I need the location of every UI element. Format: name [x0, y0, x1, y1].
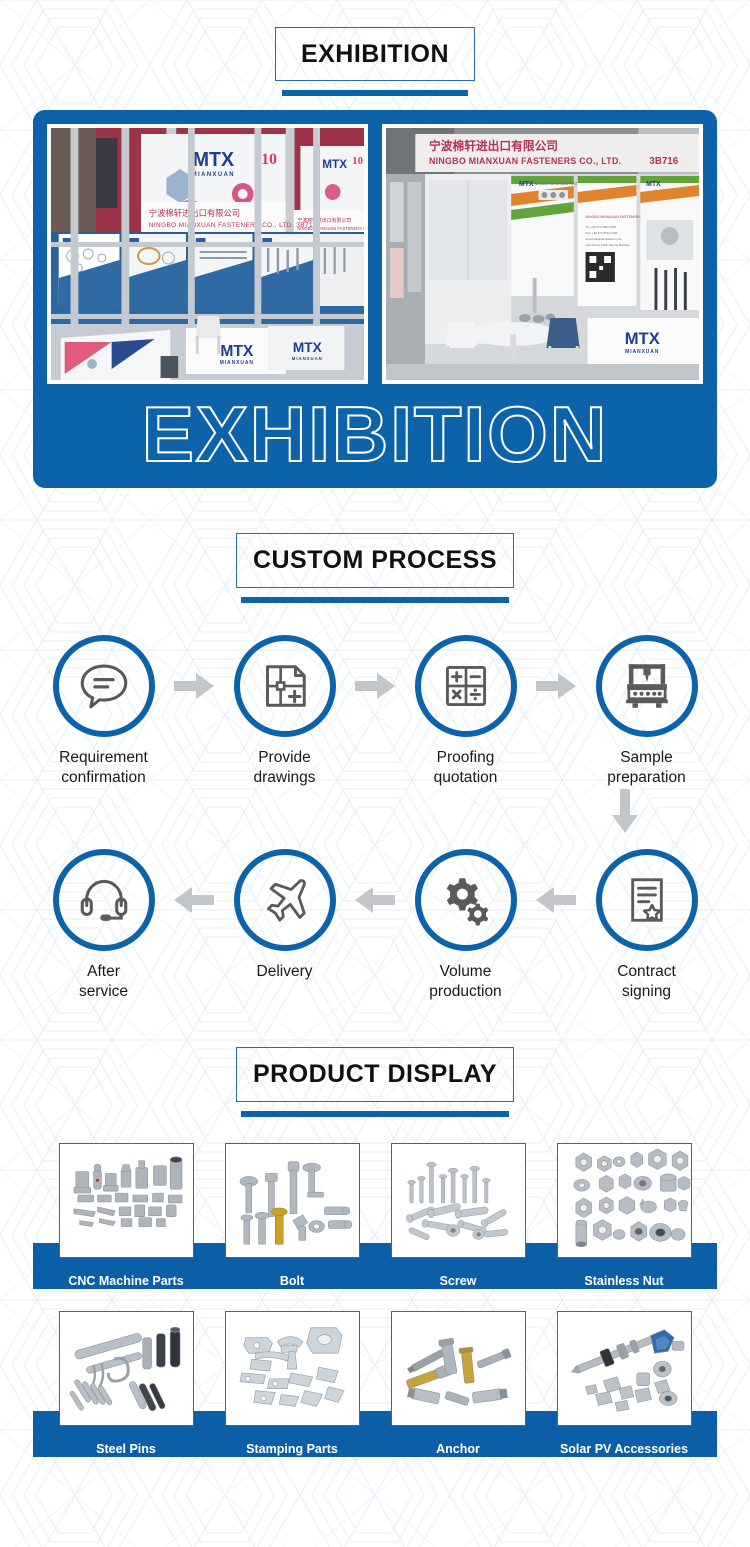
process-step-label: Contract signing: [617, 962, 676, 1003]
process-step-delivery[interactable]: Delivery: [217, 849, 352, 982]
product-label: Bolt: [280, 1258, 304, 1304]
exhibition-heading-box: EXHIBITION: [275, 27, 475, 81]
exhibition-heading-underline: [282, 90, 468, 96]
process-step-label-line2: production: [429, 982, 501, 1002]
product-row-2-grid: Steel Pins: [0, 1311, 750, 1472]
process-step-label-line2: signing: [617, 982, 676, 1002]
exhibition-banner-word: EXHIBITION: [47, 390, 703, 480]
process-step-label-line2: quotation: [434, 768, 498, 788]
process-step-volume-production[interactable]: Volume production: [398, 849, 533, 1003]
process-step-label: Provide drawings: [253, 748, 315, 789]
product-display-heading-underline: [241, 1111, 509, 1117]
product-row-2: Steel Pins: [0, 1311, 750, 1457]
process-step-label: Requirement confirmation: [59, 748, 148, 789]
process-row-1: Requirement confirmation: [0, 635, 750, 789]
svg-text:MIANXUAN: MIANXUAN: [220, 360, 254, 366]
svg-text:MTX: MTX: [293, 339, 323, 355]
svg-text:Add: Room 1806 Yahong Building: Add: Room 1806 Yahong Building: [586, 243, 630, 247]
speech-bubble-icon: [75, 657, 133, 715]
exhibition-card: MTX MIANXUAN 10 MTX 10 宁波棉轩进出口有限公司: [33, 110, 717, 488]
process-step-contract-signing[interactable]: Contract signing: [579, 849, 714, 1003]
cnc-machine-parts-photo: [59, 1143, 194, 1258]
svg-text:NINGBO MIANXUAN FASTENERS CO.,: NINGBO MIANXUAN FASTENERS CO., LTD.: [429, 156, 621, 166]
process-step-circle: [415, 849, 517, 951]
process-arrow-right-1: [171, 635, 217, 737]
product-label: Screw: [440, 1258, 477, 1304]
custom-process-heading-box: CUSTOM PROCESS: [236, 533, 514, 588]
exhibition-photo-row: MTX MIANXUAN 10 MTX 10 宁波棉轩进出口有限公司: [47, 124, 703, 384]
process-arrow-down: [612, 789, 638, 833]
svg-text:NINGBO MIANXUAN FASTENERS CO.,: NINGBO MIANXUAN FASTENERS CO., LTD: [297, 226, 364, 231]
exhibition-heading-text: EXHIBITION: [301, 40, 449, 69]
process-step-requirement-confirmation[interactable]: Requirement confirmation: [36, 635, 171, 789]
process-step-label-line1: Provide: [253, 748, 315, 768]
process-step-proofing-quotation[interactable]: Proofing quotation: [398, 635, 533, 789]
product-label: Stamping Parts: [246, 1426, 338, 1472]
airplane-icon: [257, 872, 313, 928]
svg-text:宁波棉轩进出口有限公司: 宁波棉轩进出口有限公司: [297, 217, 351, 224]
process-step-circle: [415, 635, 517, 737]
product-cell-anchor[interactable]: Anchor: [382, 1311, 534, 1472]
process-connector-row: [0, 789, 750, 845]
process-step-label: Delivery: [257, 962, 313, 982]
product-label: Anchor: [436, 1426, 480, 1472]
process-arrow-left-3: [533, 849, 579, 951]
process-step-circle: [596, 849, 698, 951]
product-display-section-header: PRODUCT DISPLAY: [0, 1003, 750, 1117]
process-step-label-line2: service: [79, 982, 128, 1002]
svg-text:www.industrial-fastener.com: www.industrial-fastener.com: [586, 237, 623, 241]
process-step-label-line1: Contract: [617, 962, 676, 982]
process-step-label-line1: Sample: [607, 748, 685, 768]
svg-text:MTX: MTX: [193, 149, 235, 171]
product-display-heading-text: PRODUCT DISPLAY: [253, 1060, 497, 1089]
product-label: Solar PV Accessories: [560, 1426, 688, 1472]
svg-text:宁波棉轩进出口有限公司: 宁波棉轩进出口有限公司: [429, 139, 558, 153]
solar-pv-accessories-photo: [557, 1311, 692, 1426]
cnc-machine-icon: [618, 657, 676, 715]
svg-text:MIANXUAN: MIANXUAN: [292, 356, 323, 361]
process-step-sample-preparation[interactable]: Sample preparation: [579, 635, 714, 789]
steel-pins-photo: [59, 1311, 194, 1426]
stainless-nut-photo: [557, 1143, 692, 1258]
exhibition-booth-photo-2[interactable]: 宁波棉轩进出口有限公司 NINGBO MIANXUAN FASTENERS CO…: [382, 124, 703, 384]
exhibition-section-header: EXHIBITION: [0, 0, 750, 96]
product-label: Steel Pins: [96, 1426, 156, 1472]
svg-text:MTX: MTX: [519, 181, 534, 188]
svg-text:MIANXUAN: MIANXUAN: [192, 172, 235, 178]
stamping-parts-photo: [225, 1311, 360, 1426]
product-display-heading-box: PRODUCT DISPLAY: [236, 1047, 514, 1102]
product-cell-cnc-machine-parts[interactable]: CNC Machine Parts: [50, 1143, 202, 1304]
process-arrow-left-1: [171, 849, 217, 951]
process-step-circle: [53, 849, 155, 951]
contract-star-icon: [620, 873, 674, 927]
product-cell-screw[interactable]: Screw: [382, 1143, 534, 1304]
anchor-photo: [391, 1311, 526, 1426]
svg-text:MTX: MTX: [646, 181, 661, 188]
gears-icon: [437, 871, 495, 929]
screw-photo: [391, 1143, 526, 1258]
process-step-label-line1: Proofing: [434, 748, 498, 768]
custom-process-section-header: CUSTOM PROCESS: [0, 488, 750, 603]
calculator-icon: [439, 659, 493, 713]
exhibition-booth-photo-1[interactable]: MTX MIANXUAN 10 MTX 10 宁波棉轩进出口有限公司: [47, 124, 368, 384]
process-step-label: After service: [79, 962, 128, 1003]
svg-text:MTX: MTX: [322, 157, 347, 171]
process-step-label: Volume production: [429, 962, 501, 1003]
svg-text:10: 10: [261, 151, 277, 168]
svg-text:10: 10: [352, 155, 363, 167]
process-arrow-left-2: [352, 849, 398, 951]
svg-text:NINGBO MIANXUAN FASTENERS CO.,: NINGBO MIANXUAN FASTENERS CO., LTD. 3B71…: [149, 222, 317, 229]
product-row-1: CNC Machine Parts: [0, 1143, 750, 1289]
product-cell-steel-pins[interactable]: Steel Pins: [50, 1311, 202, 1472]
process-step-label: Sample preparation: [607, 748, 685, 789]
product-row-1-grid: CNC Machine Parts: [0, 1143, 750, 1304]
process-step-label-line1: After: [79, 962, 128, 982]
custom-process-heading-underline: [241, 597, 509, 603]
process-step-label-line1: Delivery: [257, 962, 313, 982]
product-cell-bolt[interactable]: Bolt: [216, 1143, 368, 1304]
svg-text:MTX: MTX: [220, 343, 253, 360]
product-label: Stainless Nut: [584, 1258, 663, 1304]
process-step-circle: [596, 635, 698, 737]
process-arrow-right-3: [533, 635, 579, 737]
process-step-label-line2: confirmation: [59, 768, 148, 788]
process-arrow-right-2: [352, 635, 398, 737]
process-step-after-service[interactable]: After service: [36, 849, 171, 1003]
product-cell-solar-pv-accessories[interactable]: Solar PV Accessories: [548, 1311, 700, 1472]
blueprint-drawing-icon: [257, 658, 313, 714]
product-cell-stamping-parts[interactable]: Stamping Parts: [216, 1311, 368, 1472]
process-step-label-line1: Requirement: [59, 748, 148, 768]
product-label: CNC Machine Parts: [68, 1258, 183, 1304]
process-step-provide-drawings[interactable]: Provide drawings: [217, 635, 352, 789]
process-step-circle: [53, 635, 155, 737]
product-cell-stainless-nut[interactable]: Stainless Nut: [548, 1143, 700, 1304]
svg-text:MTX: MTX: [625, 329, 661, 348]
svg-text:3B716: 3B716: [649, 156, 678, 167]
process-step-label-line2: drawings: [253, 768, 315, 788]
svg-text:Fax: +86 574 5512 0100: Fax: +86 574 5512 0100: [586, 231, 618, 235]
custom-process-heading-text: CUSTOM PROCESS: [253, 546, 497, 575]
process-row-2: After service Delivery: [0, 849, 750, 1003]
process-step-label-line2: preparation: [607, 768, 685, 788]
process-step-circle: [234, 849, 336, 951]
svg-text:Tel: +86 574 5587 6900: Tel: +86 574 5587 6900: [586, 225, 617, 229]
process-step-label: Proofing quotation: [434, 748, 498, 789]
process-step-label-line1: Volume: [429, 962, 501, 982]
process-step-circle: [234, 635, 336, 737]
svg-text:MIANXUAN: MIANXUAN: [625, 349, 659, 355]
bolt-photo: [225, 1143, 360, 1258]
headset-icon: [75, 871, 133, 929]
